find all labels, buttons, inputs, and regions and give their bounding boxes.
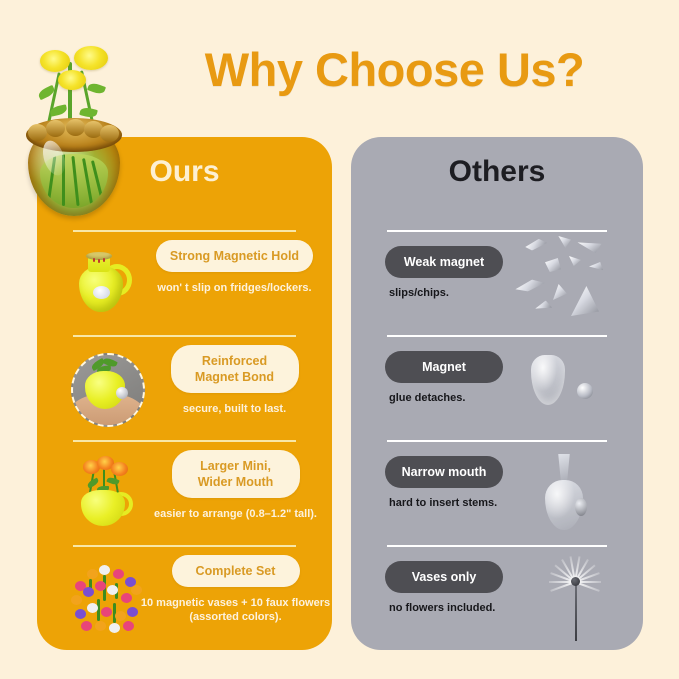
others-row-2: Magnet glue detaches. [351, 335, 643, 440]
hero-vase-image [22, 36, 126, 216]
ours-row-4-image [67, 561, 139, 633]
ours-row-3-text: Larger Mini, Wider Mouth easier to arran… [133, 450, 338, 521]
hero-glass-rim [26, 118, 122, 152]
others-row-4-badge: Vases only [385, 561, 503, 593]
row-divider [387, 440, 607, 442]
ours-row-2-badge-line1: Reinforced [202, 354, 267, 368]
ours-row-4-caption-line1: 10 magnetic vases + 10 faux flowers [141, 597, 330, 609]
ours-row-2: Reinforced Magnet Bond secure, built to … [37, 335, 332, 440]
others-rows: Weak magnet slips/chips. [351, 230, 643, 647]
ours-row-1-badge: Strong Magnetic Hold [156, 240, 313, 272]
ours-row-1: Strong Magnetic Hold won' t slip on frid… [37, 230, 332, 335]
ours-row-1-image [67, 246, 139, 318]
ours-row-4-badge: Complete Set [172, 555, 300, 587]
row-divider [387, 335, 607, 337]
ours-row-3-caption: easier to arrange (0.8–1.2" tall). [133, 507, 338, 521]
ours-row-2-caption: secure, built to last. [147, 402, 322, 416]
ours-row-3-image [67, 456, 139, 528]
ours-row-3: Larger Mini, Wider Mouth easier to arran… [37, 440, 332, 545]
row-divider [73, 335, 296, 337]
ours-row-4-caption: 10 magnetic vases + 10 faux flowers (ass… [133, 596, 338, 624]
ours-row-4-caption-line2: (assorted colors). [189, 611, 281, 623]
ours-row-3-badge: Larger Mini, Wider Mouth [172, 450, 300, 498]
others-heading: Others [351, 155, 643, 189]
others-row-3-image [511, 446, 621, 538]
others-row-3-caption: hard to insert stems. [389, 497, 497, 509]
others-row-1-badge: Weak magnet [385, 246, 503, 278]
others-row-1-image [511, 236, 621, 328]
ours-row-2-image [67, 351, 139, 423]
others-row-4-caption: no flowers included. [389, 602, 495, 614]
others-row-2-badge: Magnet [385, 351, 503, 383]
others-row-4-image [511, 551, 621, 643]
ours-row-2-badge-line2: Magnet Bond [195, 370, 274, 384]
comparison-infographic: Why Choose Us? [0, 0, 679, 679]
ours-row-2-badge: Reinforced Magnet Bond [171, 345, 299, 393]
ours-row-4: Complete Set 10 magnetic vases + 10 faux… [37, 545, 332, 647]
others-row-3: Narrow mouth hard to insert stems. [351, 440, 643, 545]
others-row-3-badge: Narrow mouth [385, 456, 503, 488]
row-divider [387, 545, 607, 547]
ours-row-2-text: Reinforced Magnet Bond secure, built to … [147, 345, 322, 416]
others-row-1-caption: slips/chips. [389, 287, 449, 299]
ours-row-1-text: Strong Magnetic Hold won' t slip on frid… [147, 240, 322, 295]
row-divider [73, 545, 296, 547]
others-row-4: Vases only no flowers included. [351, 545, 643, 647]
ours-row-3-badge-line2: Wider Mouth [198, 475, 274, 489]
ours-rows: Strong Magnetic Hold won' t slip on frid… [37, 230, 332, 647]
others-row-2-caption: glue detaches. [389, 392, 465, 404]
row-divider [387, 230, 607, 232]
ours-row-4-text: Complete Set 10 magnetic vases + 10 faux… [133, 555, 338, 624]
others-panel: Others Weak magnet slips/chips. [351, 137, 643, 650]
row-divider [73, 440, 296, 442]
ours-row-1-caption: won' t slip on fridges/lockers. [147, 281, 322, 295]
others-row-2-image [511, 341, 621, 433]
others-row-1: Weak magnet slips/chips. [351, 230, 643, 335]
ours-row-3-badge-line1: Larger Mini, [200, 459, 271, 473]
row-divider [73, 230, 296, 232]
